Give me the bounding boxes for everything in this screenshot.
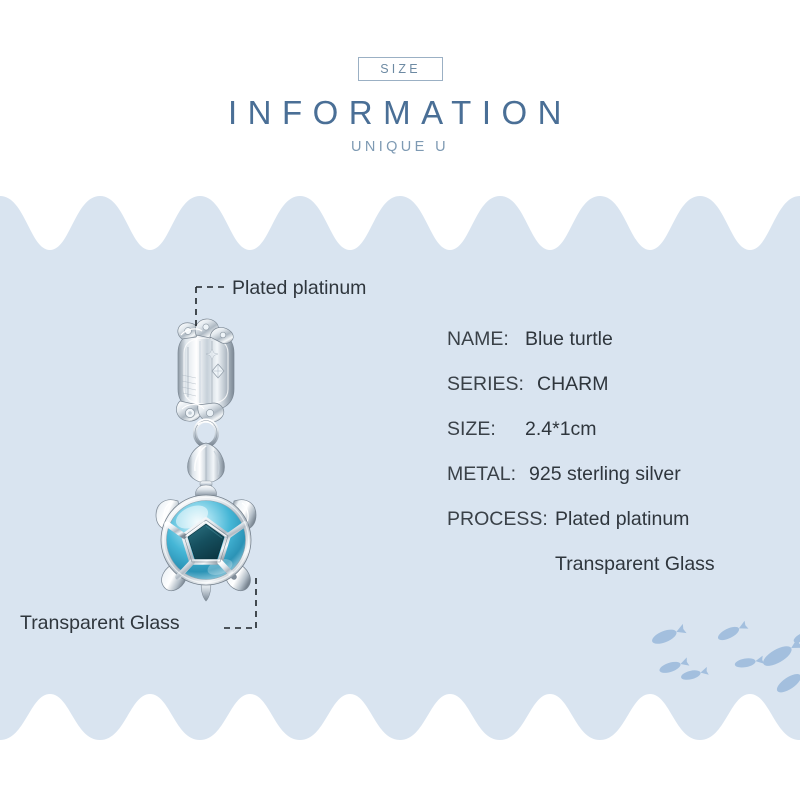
spec-value-process-second: Transparent Glass	[555, 553, 715, 595]
fish-icon	[658, 657, 689, 675]
annotation-label-plated-platinum: Plated platinum	[232, 277, 366, 300]
spec-row-process-continuation: Transparent Glass	[447, 553, 777, 595]
fish-icon	[716, 620, 749, 642]
fish-icon	[760, 637, 800, 670]
header: SIZE INFORMATION UNIQUE U	[0, 0, 800, 195]
fish-icon	[650, 623, 687, 646]
product-info-graphic: SIZE INFORMATION UNIQUE U	[0, 0, 800, 800]
bell-connector	[188, 443, 225, 487]
size-badge: SIZE	[358, 57, 443, 81]
spec-continuation-spacer	[447, 553, 555, 595]
spec-key-process: PROCESS:	[447, 508, 555, 531]
fish-icon	[734, 655, 764, 669]
product-image-blue-turtle-charm	[148, 305, 308, 605]
spec-key-series: SERIES:	[447, 373, 537, 396]
spec-key-name: NAME:	[447, 328, 525, 351]
spec-key-size: SIZE:	[447, 418, 525, 441]
page-subtitle: UNIQUE U	[0, 137, 800, 157]
spec-value-metal: 925 sterling silver	[529, 463, 681, 486]
spec-row-metal: METAL: 925 sterling silver	[447, 463, 777, 508]
spec-key-metal: METAL:	[447, 463, 529, 486]
fish-icon	[792, 627, 800, 645]
spec-value-series: CHARM	[537, 373, 609, 396]
fish-icon	[774, 665, 800, 696]
fish-school-decoration	[628, 598, 800, 710]
filigree-bead	[176, 319, 234, 422]
bail-ring	[195, 421, 217, 446]
spec-row-name: NAME: Blue turtle	[447, 328, 777, 373]
turtle-figure	[156, 485, 256, 601]
spec-value-process: Plated platinum	[555, 508, 689, 531]
spec-value-size: 2.4*1cm	[525, 418, 597, 441]
annotation-label-transparent-glass: Transparent Glass	[20, 612, 180, 635]
spec-row-series: SERIES: CHARM	[447, 373, 777, 418]
spec-list: NAME: Blue turtle SERIES: CHARM SIZE: 2.…	[447, 328, 777, 595]
spec-row-size: SIZE: 2.4*1cm	[447, 418, 777, 463]
spec-row-process: PROCESS: Plated platinum	[447, 508, 777, 553]
spec-value-name: Blue turtle	[525, 328, 613, 351]
fish-icon	[680, 667, 709, 682]
page-title: INFORMATION	[0, 93, 800, 133]
